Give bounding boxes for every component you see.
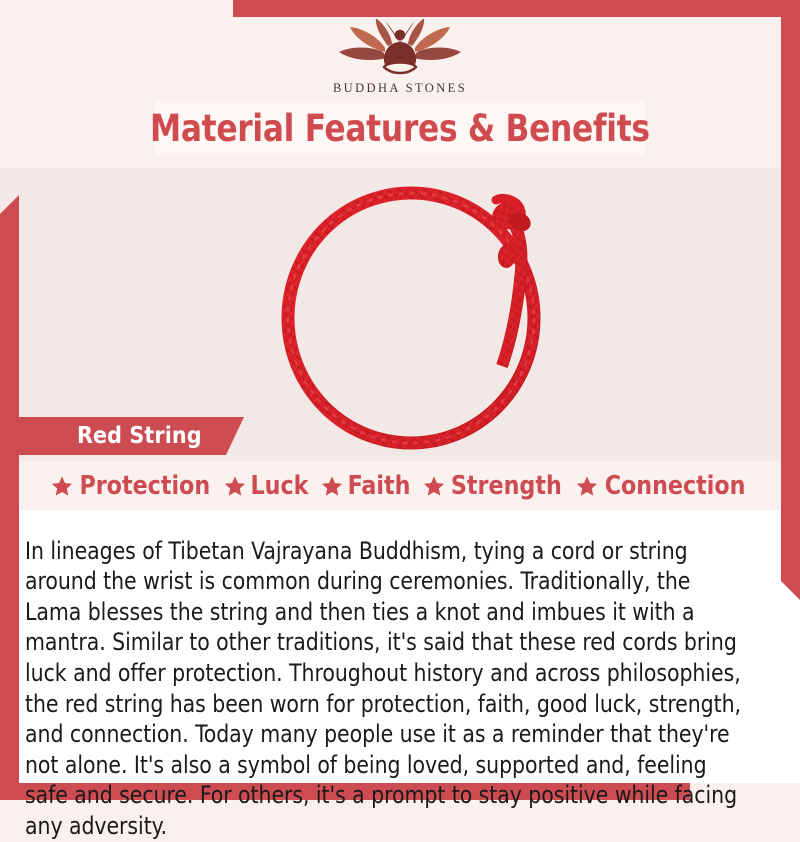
benefit-label: Protection xyxy=(79,471,210,501)
star-icon xyxy=(423,475,445,497)
brand-logo: BUDDHA STONES xyxy=(305,18,495,102)
brand-name: BUDDHA STONES xyxy=(305,81,495,96)
star-icon xyxy=(51,475,73,497)
benefit-label: Faith xyxy=(348,471,411,501)
benefit-label: Luck xyxy=(251,471,309,501)
star-icon xyxy=(224,475,246,497)
benefit-label: Strength xyxy=(451,471,562,501)
lotus-meditation-icon xyxy=(325,18,475,80)
benefits-list: Protection Luck Faith Strength Connectio… xyxy=(19,466,781,506)
infographic-page: BUDDHA STONES Material Features & Benefi… xyxy=(0,0,800,800)
decorative-border-right xyxy=(781,0,800,600)
title-banner: Material Features & Benefits xyxy=(155,101,645,155)
material-name: Red String xyxy=(77,423,202,449)
product-image xyxy=(268,170,568,460)
material-label-banner: Red String xyxy=(19,417,244,455)
decorative-border-left xyxy=(0,195,19,800)
benefit-item-strength: Strength xyxy=(423,471,565,501)
benefit-item-faith: Faith xyxy=(321,471,412,501)
benefit-label: Connection xyxy=(605,471,746,501)
star-icon xyxy=(576,475,598,497)
benefit-item-luck: Luck xyxy=(224,471,310,501)
benefit-item-protection: Protection xyxy=(51,471,214,501)
page-title: Material Features & Benefits xyxy=(150,107,650,150)
star-icon xyxy=(321,475,343,497)
red-braided-bracelet-illustration xyxy=(268,170,568,460)
description-paragraph: In lineages of Tibetan Vajrayana Buddhis… xyxy=(25,536,753,842)
benefit-item-connection: Connection xyxy=(576,471,749,501)
decorative-border-top xyxy=(233,0,800,17)
